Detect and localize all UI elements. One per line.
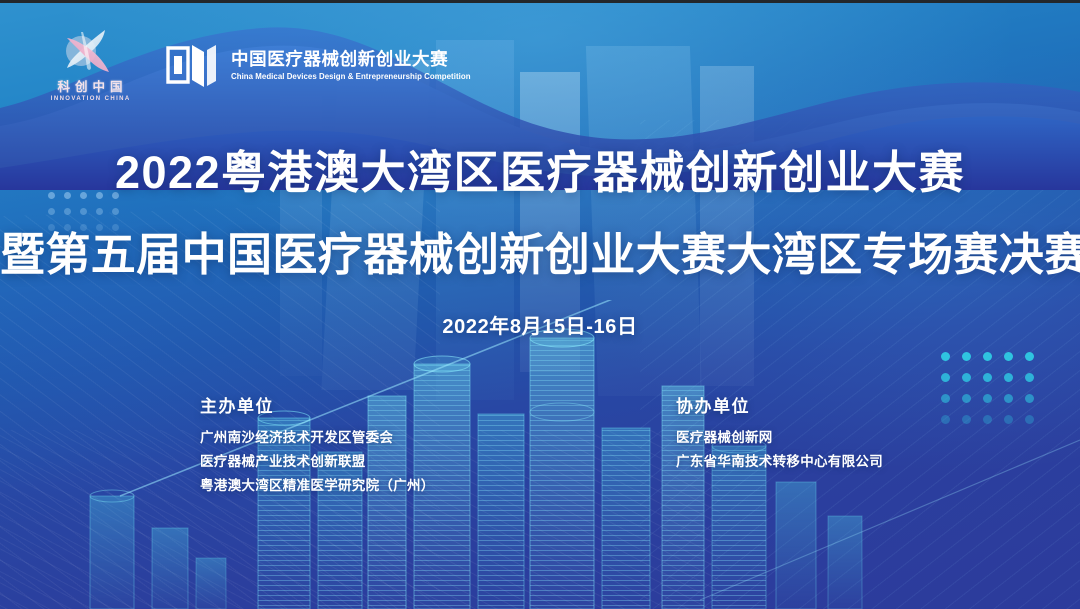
event-poster-banner: 科创中国 INNOVATION CHINA 中国医疗器械创新创业大赛 China… xyxy=(0,0,1080,609)
organizer-coorg-entry-2: 广东省华南技术转移中心有限公司 xyxy=(676,450,883,474)
top-edge-bar xyxy=(0,0,1080,3)
organizer-coorg-entry-1: 医疗器械创新网 xyxy=(676,426,883,450)
organizer-coorg-heading: 协办单位 xyxy=(676,392,883,417)
organizer-block-coorganizer: 协办单位 医疗器械创新网 广东省华南技术转移中心有限公司 xyxy=(676,392,883,474)
organizer-host-entry-2: 医疗器械产业技术创新联盟 xyxy=(200,450,435,474)
poster-title-line-1: 2022粤港澳大湾区医疗器械创新创业大赛 xyxy=(0,136,1080,201)
organizer-host-entry-1: 广州南沙经济技术开发区管委会 xyxy=(200,426,435,450)
organizer-host-entry-3: 粤港澳大湾区精准医学研究院（广州） xyxy=(200,474,435,498)
poster-title-line-2: 暨第五届中国医疗器械创新创业大赛大湾区专场赛决赛 xyxy=(0,218,1080,283)
organizer-host-heading: 主办单位 xyxy=(200,392,435,417)
poster-content: 2022粤港澳大湾区医疗器械创新创业大赛 暨第五届中国医疗器械创新创业大赛大湾区… xyxy=(0,0,1080,609)
event-date: 2022年8月15日-16日 xyxy=(0,310,1080,339)
organizer-block-host: 主办单位 广州南沙经济技术开发区管委会 医疗器械产业技术创新联盟 粤港澳大湾区精… xyxy=(200,392,435,498)
